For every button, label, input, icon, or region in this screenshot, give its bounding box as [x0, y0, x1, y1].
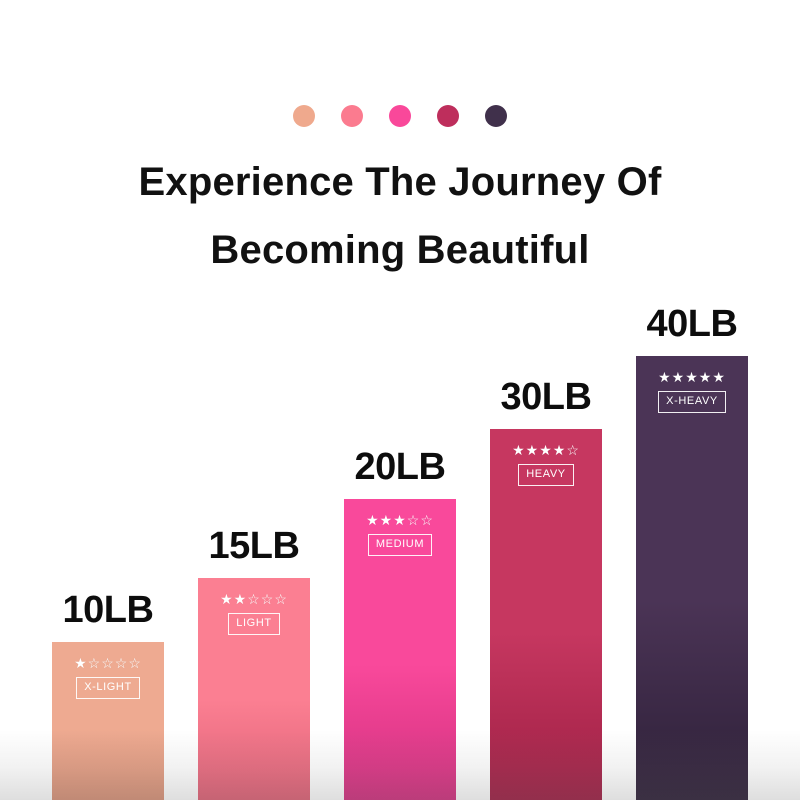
bar-content: ★★★★★X-HEAVY — [636, 370, 748, 413]
resistance-level-badge: X-LIGHT — [76, 677, 140, 699]
infographic-canvas: Experience The Journey Of Becoming Beaut… — [0, 0, 800, 800]
resistance-bar-chart: 10LB★☆☆☆☆X-LIGHT15LB★★☆☆☆LIGHT20LB★★★☆☆M… — [0, 0, 800, 800]
bar-group-20lb[interactable]: 20LB★★★☆☆MEDIUM — [344, 446, 456, 800]
bar-content: ★★☆☆☆LIGHT — [198, 592, 310, 635]
bar-20lb[interactable]: ★★★☆☆MEDIUM — [344, 499, 456, 800]
star-rating-icon: ★★★★★ — [658, 370, 726, 384]
bar-40lb[interactable]: ★★★★★X-HEAVY — [636, 356, 748, 800]
resistance-level-badge: LIGHT — [228, 613, 279, 635]
star-rating-icon: ★★★★☆ — [512, 443, 580, 457]
bar-content: ★★★☆☆MEDIUM — [344, 513, 456, 556]
bar-group-40lb[interactable]: 40LB★★★★★X-HEAVY — [636, 303, 748, 800]
bar-content: ★☆☆☆☆X-LIGHT — [52, 656, 164, 699]
bar-10lb[interactable]: ★☆☆☆☆X-LIGHT — [52, 642, 164, 800]
star-rating-icon: ★☆☆☆☆ — [74, 656, 142, 670]
resistance-level-badge: HEAVY — [518, 464, 573, 486]
bar-value-label-40lb: 40LB — [647, 303, 738, 346]
bar-value-label-20lb: 20LB — [355, 446, 446, 489]
bar-group-30lb[interactable]: 30LB★★★★☆HEAVY — [490, 376, 602, 800]
bar-15lb[interactable]: ★★☆☆☆LIGHT — [198, 578, 310, 800]
bar-30lb[interactable]: ★★★★☆HEAVY — [490, 429, 602, 800]
bar-group-10lb[interactable]: 10LB★☆☆☆☆X-LIGHT — [52, 589, 164, 800]
star-rating-icon: ★★☆☆☆ — [220, 592, 288, 606]
bar-value-label-10lb: 10LB — [63, 589, 154, 632]
star-rating-icon: ★★★☆☆ — [366, 513, 434, 527]
bar-fill — [636, 356, 748, 800]
resistance-level-badge: X-HEAVY — [658, 391, 726, 413]
bar-value-label-15lb: 15LB — [209, 525, 300, 568]
resistance-level-badge: MEDIUM — [368, 534, 432, 556]
bar-group-15lb[interactable]: 15LB★★☆☆☆LIGHT — [198, 525, 310, 800]
bar-content: ★★★★☆HEAVY — [490, 443, 602, 486]
bar-value-label-30lb: 30LB — [501, 376, 592, 419]
